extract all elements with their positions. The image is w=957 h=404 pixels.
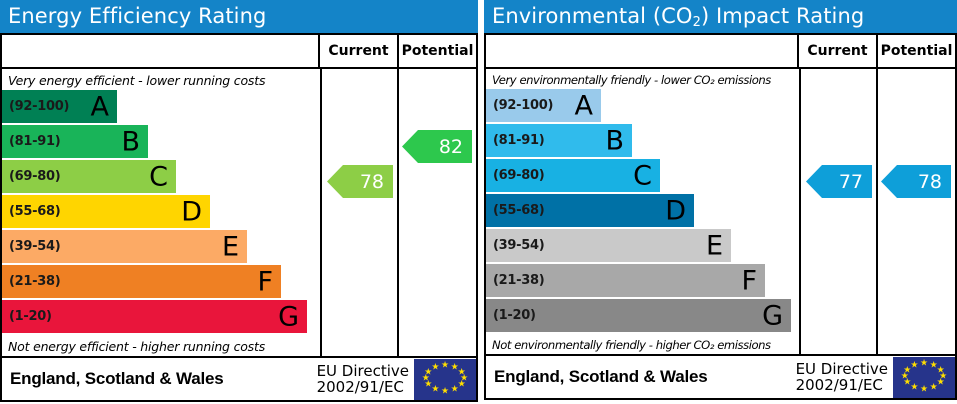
co2-footer-directive: EU Directive 2002/91/EC	[796, 361, 893, 393]
energy-current-rating-arrow: 78	[327, 165, 393, 198]
co2-potential-value: 78	[918, 171, 942, 193]
co2-band-range-e: (39-54)	[486, 238, 544, 253]
energy-table-header: Current Potential	[2, 35, 476, 69]
energy-header-current: Current	[320, 35, 399, 67]
co2-band-g: (1-20)G	[486, 299, 791, 332]
eu-flag-star: ★	[441, 362, 449, 371]
co2-directive-line1: EU Directive	[796, 361, 888, 377]
co2-band-list: (92-100)A(81-91)B(69-80)C(55-68)D(39-54)…	[486, 89, 799, 332]
co2-band-letter-d: D	[665, 197, 686, 224]
co2-band-range-g: (1-20)	[486, 308, 536, 323]
energy-band-letter-e: E	[222, 233, 239, 260]
co2-rating-table: Current Potential Very environmentally f…	[484, 33, 957, 356]
co2-band-c: (69-80)C	[486, 159, 660, 192]
co2-band-range-b: (81-91)	[486, 133, 544, 148]
energy-footer-region: England, Scotland & Wales	[2, 369, 317, 389]
energy-band-f: (21-38)F	[2, 265, 281, 298]
energy-chart-title: Energy Efficiency Rating	[8, 6, 266, 27]
energy-directive-line2: 2002/91/EC	[317, 379, 409, 395]
co2-band-letter-c: C	[633, 162, 652, 189]
energy-current-column: 78	[322, 69, 399, 356]
energy-chart-title-bar: Energy Efficiency Rating	[0, 0, 478, 33]
co2-title-head: Environmental (CO	[492, 4, 693, 28]
co2-bands-column: Very environmentally friendly - lower CO…	[486, 69, 801, 354]
co2-title-subscript: 2	[693, 15, 701, 30]
co2-band-letter-e: E	[706, 232, 723, 259]
co2-band-d: (55-68)D	[486, 194, 694, 227]
co2-footer-region: England, Scotland & Wales	[486, 367, 796, 387]
co2-header-potential: Potential	[878, 35, 955, 67]
co2-band-f: (21-38)F	[486, 264, 765, 297]
energy-band-letter-d: D	[181, 198, 202, 225]
energy-band-g: (1-20)G	[2, 300, 307, 333]
eu-flag-star: ★	[920, 360, 928, 369]
energy-band-a: (92-100)A	[2, 90, 117, 123]
eu-flag-star: ★	[910, 384, 918, 393]
eu-flag-star: ★	[451, 386, 459, 395]
energy-rating-table: Current Potential Very energy efficient …	[0, 33, 478, 358]
energy-current-value: 78	[360, 171, 384, 193]
co2-band-a: (92-100)A	[486, 89, 601, 122]
co2-header-spacer	[486, 35, 799, 67]
energy-band-range-g: (1-20)	[2, 309, 52, 324]
eu-flag-star: ★	[920, 385, 928, 394]
energy-potential-rating-arrow: 82	[402, 130, 472, 163]
co2-header-current: Current	[799, 35, 878, 67]
energy-band-e: (39-54)E	[2, 230, 247, 263]
energy-header-potential: Potential	[399, 35, 476, 67]
energy-potential-value: 82	[439, 136, 463, 158]
energy-band-letter-g: G	[278, 303, 299, 330]
co2-caption-bottom: Not environmentally friendly - higher CO…	[486, 334, 799, 354]
energy-bands-column: Very energy efficient - lower running co…	[2, 69, 322, 356]
energy-band-letter-f: F	[257, 268, 273, 295]
energy-band-c: (69-80)C	[2, 160, 176, 193]
energy-caption-bottom: Not energy efficient - higher running co…	[2, 335, 320, 356]
energy-band-range-d: (55-68)	[2, 204, 60, 219]
co2-current-column: 77	[801, 69, 878, 354]
energy-band-letter-c: C	[149, 163, 168, 190]
energy-efficiency-chart: Energy Efficiency Rating Current Potenti…	[0, 0, 478, 404]
energy-band-range-f: (21-38)	[2, 274, 60, 289]
co2-chart-title-bar: Environmental (CO2) Impact Rating	[484, 0, 957, 33]
eu-flag-star: ★	[930, 384, 938, 393]
co2-band-e: (39-54)E	[486, 229, 731, 262]
energy-potential-column: 82	[399, 69, 476, 356]
co2-band-letter-b: B	[605, 127, 624, 154]
energy-band-b: (81-91)B	[2, 125, 148, 158]
eu-flag-star: ★	[431, 386, 439, 395]
energy-caption-top: Very energy efficient - lower running co…	[2, 69, 320, 90]
co2-current-rating-arrow: 77	[806, 165, 872, 198]
energy-band-range-a: (92-100)	[2, 99, 69, 114]
eu-flag-icon: ★★★★★★★★★★★★	[893, 357, 955, 398]
co2-caption-top: Very environmentally friendly - lower CO…	[486, 69, 799, 89]
co2-potential-column: 78	[878, 69, 955, 354]
co2-current-value: 77	[839, 171, 863, 193]
energy-band-d: (55-68)D	[2, 195, 210, 228]
co2-table-header: Current Potential	[486, 35, 955, 69]
energy-band-letter-b: B	[121, 128, 140, 155]
co2-directive-line2: 2002/91/EC	[796, 377, 888, 393]
co2-band-letter-a: A	[575, 92, 593, 119]
co2-impact-chart: Environmental (CO2) Impact Rating Curren…	[484, 0, 957, 404]
co2-band-range-d: (55-68)	[486, 203, 544, 218]
co2-table-body: Very environmentally friendly - lower CO…	[486, 69, 955, 354]
eu-flag-star: ★	[458, 381, 466, 390]
co2-chart-title: Environmental (CO2) Impact Rating	[492, 6, 864, 27]
epc-charts-container: Energy Efficiency Rating Current Potenti…	[0, 0, 957, 404]
co2-band-letter-g: G	[762, 302, 783, 329]
co2-band-range-f: (21-38)	[486, 273, 544, 288]
co2-band-letter-f: F	[741, 267, 757, 294]
energy-directive-line1: EU Directive	[317, 363, 409, 379]
eu-flag-star: ★	[441, 387, 449, 396]
co2-title-tail: ) Impact Rating	[701, 4, 864, 28]
co2-band-range-c: (69-80)	[486, 168, 544, 183]
eu-flag-star: ★	[910, 361, 918, 370]
eu-flag-star: ★	[431, 363, 439, 372]
eu-flag-star: ★	[937, 379, 945, 388]
energy-band-letter-a: A	[91, 93, 109, 120]
energy-band-list: (92-100)A(81-91)B(69-80)C(55-68)D(39-54)…	[2, 90, 320, 333]
energy-band-range-e: (39-54)	[2, 239, 60, 254]
energy-footer: England, Scotland & Wales EU Directive 2…	[0, 358, 478, 402]
eu-flag-icon: ★★★★★★★★★★★★	[414, 359, 476, 400]
co2-band-range-a: (92-100)	[486, 98, 553, 113]
co2-band-b: (81-91)B	[486, 124, 632, 157]
energy-header-spacer	[2, 35, 320, 67]
energy-band-range-b: (81-91)	[2, 134, 60, 149]
energy-band-range-c: (69-80)	[2, 169, 60, 184]
energy-table-body: Very energy efficient - lower running co…	[2, 69, 476, 356]
energy-footer-directive: EU Directive 2002/91/EC	[317, 363, 414, 395]
co2-footer: England, Scotland & Wales EU Directive 2…	[484, 356, 957, 400]
co2-potential-rating-arrow: 78	[881, 165, 951, 198]
